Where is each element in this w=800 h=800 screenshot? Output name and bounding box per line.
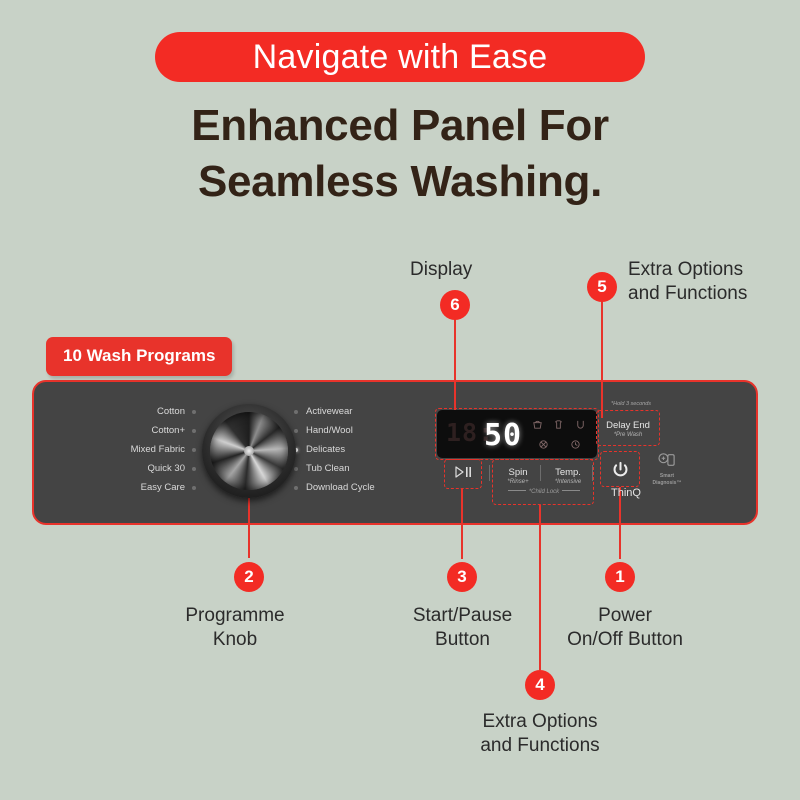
infographic-stage: Navigate with Ease Enhanced Panel For Se… [0, 0, 800, 800]
program-item[interactable]: Quick 30 [56, 459, 196, 478]
highlight-delay-end [596, 410, 660, 446]
callout-4-label: Extra Options and Functions [440, 710, 640, 759]
callout-5-line-1: Extra Options [628, 258, 798, 282]
callout-6-leader-line [454, 318, 456, 418]
program-item[interactable]: Delicates [294, 440, 444, 459]
callout-4-line-2: and Functions [440, 734, 640, 758]
program-indicator-dot [192, 410, 196, 414]
callout-3-line-2: Button [375, 628, 550, 652]
program-label: Easy Care [141, 482, 185, 493]
program-label: Tub Clean [306, 463, 349, 474]
program-item[interactable]: Cotton [56, 402, 196, 421]
program-item[interactable]: Easy Care [56, 478, 196, 497]
button-divider [489, 465, 490, 481]
callout-1-line-2: On/Off Button [540, 628, 710, 652]
smart-diagnosis-line-2: Diagnosis™ [645, 481, 689, 487]
program-label: Hand/Wool [306, 425, 353, 436]
program-indicator-dot [192, 429, 196, 433]
smart-diagnosis-logo: Smart Diagnosis™ [645, 452, 689, 487]
page-title: Enhanced Panel For Seamless Washing. [0, 98, 800, 210]
callout-4-line-1: Extra Options [440, 710, 640, 734]
callout-2-line-1: Programme [150, 604, 320, 628]
callout-3-number: 3 [447, 562, 477, 592]
callout-6-label: Display [410, 258, 530, 282]
program-label: Delicates [306, 444, 345, 455]
program-label: Quick 30 [148, 463, 186, 474]
highlight-start-pause [444, 459, 482, 489]
knob-center [244, 446, 254, 456]
callout-5-line-2: and Functions [628, 282, 798, 306]
programme-knob[interactable] [202, 404, 296, 498]
callout-5-label: Extra Options and Functions [628, 258, 798, 307]
program-item[interactable]: Download Cycle [294, 478, 444, 497]
program-indicator-dot [192, 467, 196, 471]
pill-label: Navigate with Ease [253, 38, 548, 77]
callout-5-number: 5 [587, 272, 617, 302]
callout-4-number: 4 [525, 670, 555, 700]
callout-3-leader-line [461, 489, 463, 559]
callout-6-number: 6 [440, 290, 470, 320]
programs-right-column: Activewear Hand/Wool Delicates Tub Clean… [294, 402, 444, 497]
callout-1-number: 1 [605, 562, 635, 592]
program-item[interactable]: Mixed Fabric [56, 440, 196, 459]
callout-2-line-2: Knob [150, 628, 320, 652]
callout-6-line-1: Display [410, 258, 530, 282]
callout-2-leader-line [248, 498, 250, 558]
program-indicator-dot [192, 448, 196, 452]
program-indicator-dot [192, 486, 196, 490]
callout-2-label: Programme Knob [150, 604, 320, 653]
highlight-extra-options-bottom [492, 459, 594, 505]
program-label: Download Cycle [306, 482, 375, 493]
program-item[interactable]: Hand/Wool [294, 421, 444, 440]
program-label: Cotton+ [151, 425, 185, 436]
highlight-display [435, 408, 599, 460]
program-label: Activewear [306, 406, 352, 417]
program-item[interactable]: Tub Clean [294, 459, 444, 478]
program-label: Cotton [157, 406, 185, 417]
wash-programs-badge: 10 Wash Programs [46, 337, 232, 376]
thinq-label: ThinQ [596, 487, 656, 499]
headline-line-2: Seamless Washing. [0, 154, 800, 210]
navigate-with-ease-pill: Navigate with Ease [155, 32, 645, 82]
callout-3-line-1: Start/Pause [375, 604, 550, 628]
smart-diagnosis-icon [657, 455, 677, 472]
hold-three-seconds-note: *Hold 3 seconds [596, 401, 666, 407]
smart-diagnosis-line-1: Smart [645, 474, 689, 480]
programs-left-column: Cotton Cotton+ Mixed Fabric Quick 30 Eas… [56, 402, 196, 497]
headline-line-1: Enhanced Panel For [0, 98, 800, 154]
highlight-power [600, 451, 640, 487]
program-item[interactable]: Cotton+ [56, 421, 196, 440]
program-item[interactable]: Activewear [294, 402, 444, 421]
callout-2-number: 2 [234, 562, 264, 592]
callout-1-label: Power On/Off Button [540, 604, 710, 653]
callout-3-label: Start/Pause Button [375, 604, 550, 653]
program-label: Mixed Fabric [131, 444, 185, 455]
callout-1-line-1: Power [540, 604, 710, 628]
